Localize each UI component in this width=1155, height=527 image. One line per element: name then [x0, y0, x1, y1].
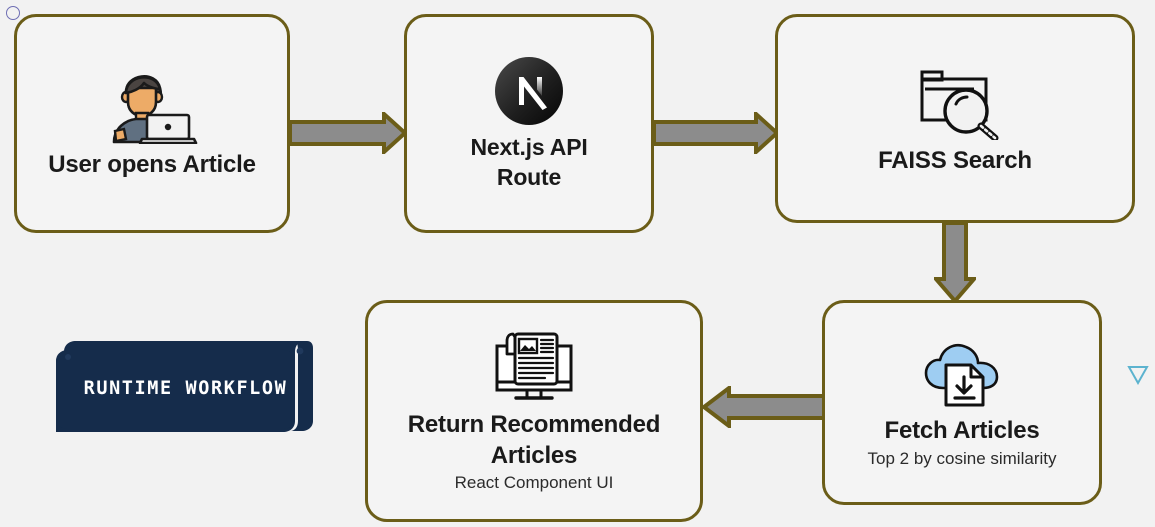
cloud-download-icon: [921, 336, 1003, 410]
node-fetch-articles[interactable]: Fetch Articles Top 2 by cosine similarit…: [822, 300, 1102, 505]
node-title: Fetch Articles: [884, 416, 1039, 446]
diagram-canvas: User opens Article: [0, 0, 1155, 527]
folder-search-icon: [908, 60, 1002, 140]
runtime-workflow-banner: RUNTIME WORKFLOW: [50, 337, 315, 440]
person-with-laptop-icon: [104, 66, 200, 144]
node-title: Return Recommended Articles: [408, 410, 660, 471]
edge-faiss-to-fetch: [934, 221, 976, 309]
node-nextjs-api-route[interactable]: Next.js API Route: [404, 14, 654, 233]
edge-user-to-api: [288, 112, 408, 159]
node-return-recommended-articles[interactable]: Return Recommended Articles React Compon…: [365, 300, 703, 522]
node-title: Next.js API Route: [470, 133, 587, 191]
edge-fetch-to-return: [701, 386, 827, 433]
node-subtitle: React Component UI: [455, 473, 614, 493]
nextjs-logo-icon: [493, 55, 565, 127]
monitor-article-icon: [485, 328, 583, 404]
node-faiss-search[interactable]: FAISS Search: [775, 14, 1135, 223]
circle-marker-icon: [6, 6, 20, 20]
node-subtitle: Top 2 by cosine similarity: [868, 449, 1057, 469]
edge-api-to-faiss: [652, 112, 780, 159]
node-title: User opens Article: [48, 150, 256, 180]
node-user-opens-article[interactable]: User opens Article: [14, 14, 290, 233]
node-title: FAISS Search: [878, 146, 1032, 176]
